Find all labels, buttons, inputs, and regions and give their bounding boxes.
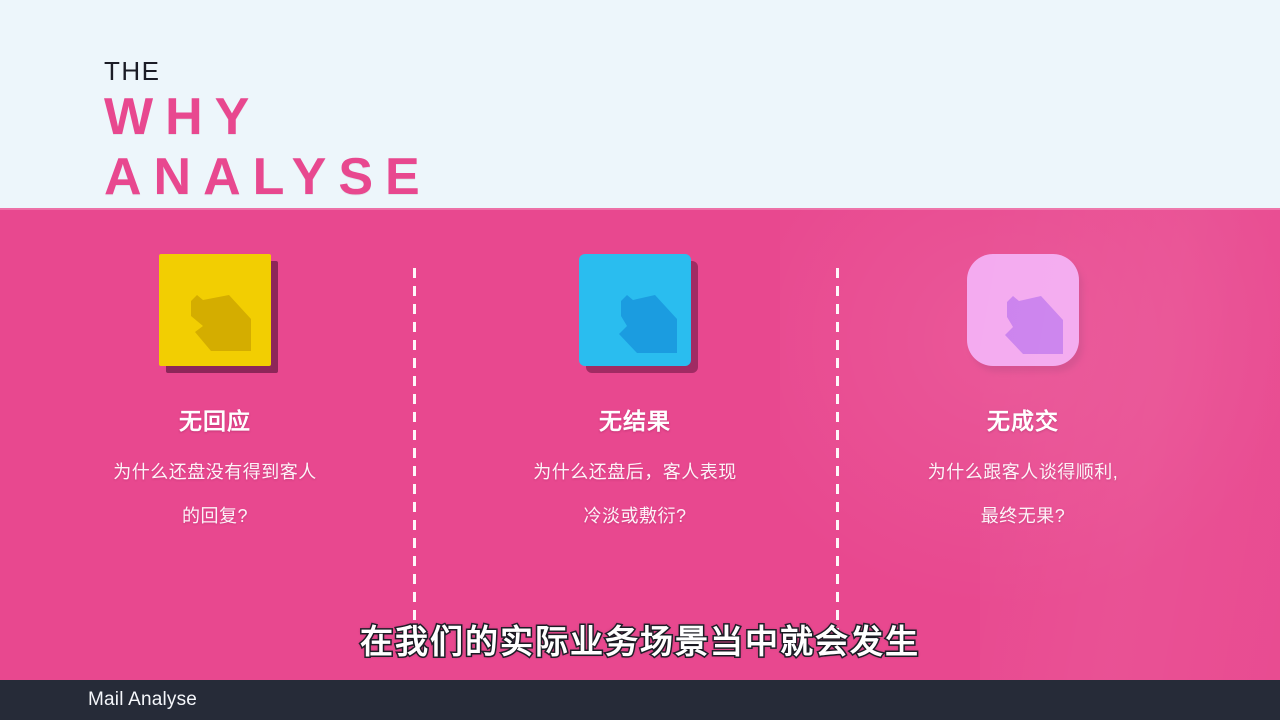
card-body-line-1: 为什么还盘没有得到客人 [8,450,422,494]
card-title: 无回应 [8,408,422,436]
column-no-response: 无回应 为什么还盘没有得到客人 的回复? [8,208,422,538]
card-body-line-2: 最终无果? [816,494,1230,538]
footer-title: Mail Analyse [88,689,197,711]
abstract-blob-shape [579,254,691,366]
footer-bar: Mail Analyse [0,680,1280,720]
yellow-square-icon [159,254,271,366]
video-caption: 在我们的实际业务场景当中就会发生 [0,622,1280,662]
card-body-line-2: 的回复? [8,494,422,538]
card-body-line-2: 冷淡或敷衍? [428,494,842,538]
title-kicker: THE [104,58,432,84]
card-body-line-1: 为什么跟客人谈得顺利, [816,450,1230,494]
card-body: 为什么还盘后，客人表现 冷淡或敷衍? [428,450,842,538]
column-no-deal: 无成交 为什么跟客人谈得顺利, 最终无果? [816,208,1230,538]
content-band: 无回应 为什么还盘没有得到客人 的回复? 无结果 [0,208,1280,680]
abstract-blob-shape [967,254,1079,366]
icon-tile [967,254,1079,366]
column-no-result: 无结果 为什么还盘后，客人表现 冷淡或敷衍? [428,208,842,538]
columns-container: 无回应 为什么还盘没有得到客人 的回复? 无结果 [0,208,1280,680]
title-line-analyse: ANALYSE [104,148,432,208]
card-body: 为什么还盘没有得到客人 的回复? [8,450,422,538]
page-title: THE WHY ANALYSE [104,58,432,208]
abstract-blob-shape [159,254,271,366]
title-line-why: WHY [104,88,432,148]
card-title: 无成交 [816,408,1230,436]
blue-square-icon [579,254,691,366]
card-body: 为什么跟客人谈得顺利, 最终无果? [816,450,1230,538]
icon-tile [159,254,271,366]
card-title: 无结果 [428,408,842,436]
violet-rounded-square-icon [967,254,1079,366]
card-body-line-1: 为什么还盘后，客人表现 [428,450,842,494]
icon-tile [579,254,691,366]
slide-root: THE WHY ANALYSE 无回应 [0,0,1280,720]
header-area: THE WHY ANALYSE [0,0,1280,208]
